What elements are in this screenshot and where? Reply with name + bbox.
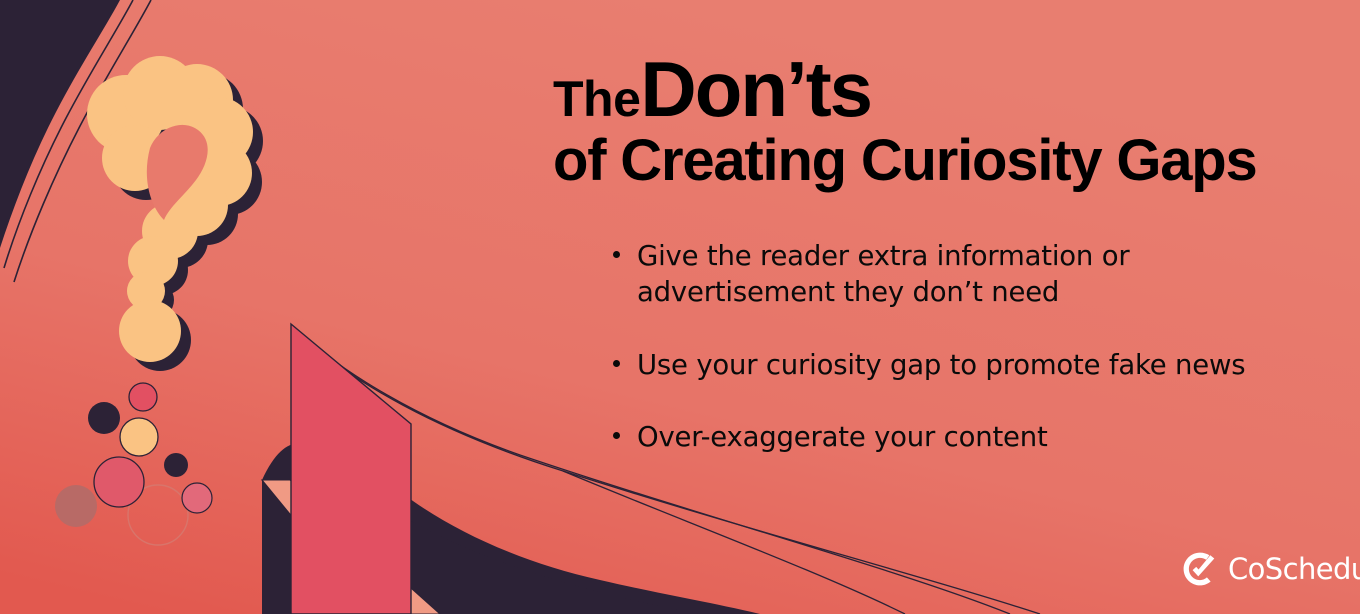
list-item-label: Use your curiosity gap to promote fake n…	[637, 347, 1313, 383]
decor-circle-tan	[120, 418, 158, 456]
peach-stripe	[262, 480, 440, 614]
title-word-donts: Don’ts	[640, 45, 871, 133]
decor-circles	[55, 383, 212, 545]
bullet-dot-icon	[613, 432, 620, 439]
content-column: TheDon’ts of Creating Curiosity Gaps Giv…	[553, 0, 1343, 614]
list-item: Use your curiosity gap to promote fake n…	[613, 347, 1313, 383]
coschedule-check-circle-icon	[1183, 552, 1217, 586]
decor-circle-outline-large	[128, 485, 188, 545]
title-line-1: TheDon’ts	[553, 52, 1313, 126]
poster-canvas: TheDon’ts of Creating Curiosity Gaps Giv…	[0, 0, 1360, 614]
crimson-panel	[291, 324, 411, 614]
question-mark-shadow	[98, 65, 263, 371]
contour-line-outer	[4, 0, 133, 268]
decor-circle-crimson-large	[94, 457, 144, 507]
coschedule-wordmark: CoSchedule	[1228, 555, 1360, 584]
list-item: Over-exaggerate your content	[613, 419, 1313, 455]
title-word-the: The	[553, 71, 640, 127]
question-mark-bubbles	[87, 56, 253, 362]
list-item: Give the reader extra information or adv…	[613, 238, 1313, 311]
page-title: TheDon’ts of Creating Curiosity Gaps	[553, 52, 1313, 190]
list-item-label: Over-exaggerate your content	[637, 419, 1313, 455]
decor-circle-pink-small	[182, 483, 212, 513]
peach-stripe-outline	[262, 480, 440, 614]
decor-circle-navy-large	[88, 402, 120, 434]
decor-circle-muted	[55, 485, 97, 527]
bullet-dot-icon	[613, 360, 620, 367]
bullet-dot-icon	[613, 251, 620, 258]
question-mark-counter	[147, 125, 208, 220]
decor-circle-crimson-small	[129, 383, 157, 411]
list-item-label: Give the reader extra information or adv…	[637, 238, 1313, 311]
dont-list: Give the reader extra information or adv…	[613, 238, 1313, 455]
decor-circle-navy-small	[164, 453, 188, 477]
top-left-dark-blob	[0, 0, 120, 248]
contour-line-inner	[14, 0, 151, 282]
coschedule-logo: CoSchedule	[1183, 552, 1360, 586]
title-line-2: of Creating Curiosity Gaps	[553, 132, 1313, 190]
